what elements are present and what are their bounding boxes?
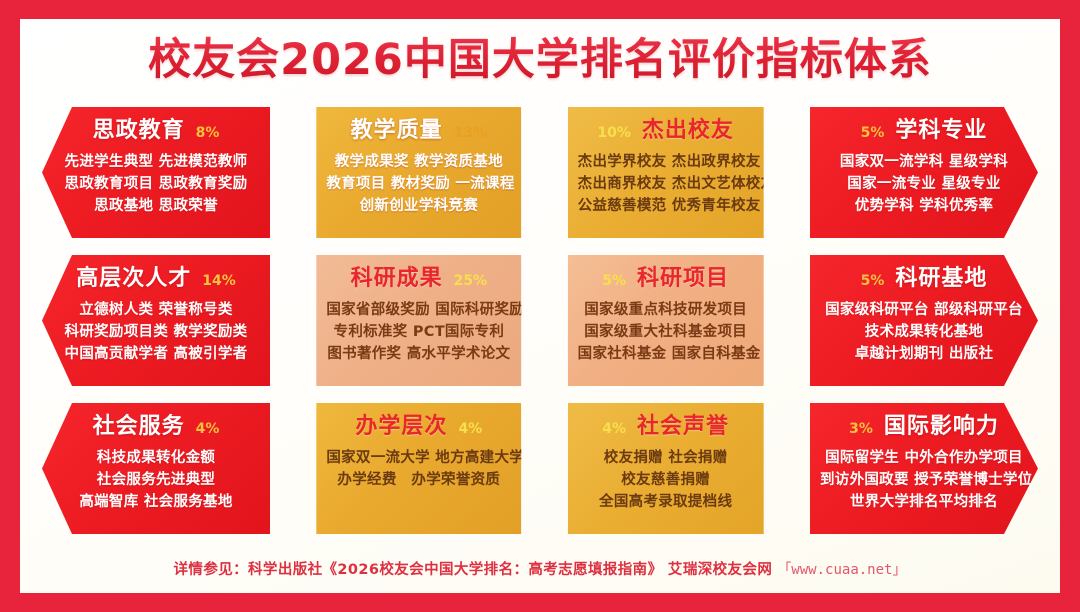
card-item-list: 校友捐赠 社会捐赠校友慈善捐赠全国高考录取提档线: [578, 447, 754, 513]
card-header: 10%杰出校友: [578, 116, 754, 146]
card-title: 科研成果: [351, 264, 443, 294]
card-header: 思政教育8%: [52, 116, 260, 146]
card-item-list: 国际留学生 中外合作办学项目到访外国政要 授予荣誉博士学位世界大学排名平均排名: [820, 447, 1028, 513]
indicator-row: 社会服务4%科技成果转化金额社会服务先进典型高端智库 社会服务基地办学层次4%国…: [42, 403, 1038, 534]
card-item-list: 国家省部级奖励 国际科研奖励专利标准奖 PCT国际专利图书著作奖 高水平学术论文: [326, 299, 511, 365]
card-item: 国家级重点科技研发项目: [578, 299, 754, 321]
card-title: 社会声誉: [637, 412, 729, 442]
card-item-list: 国家级科研平台 部级科研平台技术成果转化基地卓越计划期刊 出版社: [820, 299, 1028, 365]
card-item: 社会服务先进典型: [52, 469, 260, 491]
card-item: 国家省部级奖励 国际科研奖励: [326, 299, 511, 321]
card-weight-percent: 25%: [454, 266, 488, 296]
card-weight-percent: 5%: [861, 118, 885, 148]
card-item: 杰出商界校友 杰出文艺体校友: [578, 173, 754, 195]
card-item: 国家双一流学科 星级学科: [820, 151, 1028, 173]
card-item-list: 国家双一流大学 地方高建大学办学经费 办学荣誉资质: [326, 447, 511, 491]
card-item: 公益慈善模范 优秀青年校友: [578, 195, 754, 217]
indicator-card[interactable]: 5%科研项目国家级重点科技研发项目国家级重大社科基金项目国家社科基金 国家自科基…: [568, 255, 764, 386]
card-item: 中国高贡献学者 高被引学者: [52, 343, 260, 365]
card-item: 国家级科研平台 部级科研平台: [820, 299, 1028, 321]
card-header: 3%国际影响力: [820, 412, 1028, 442]
card-item: 思政教育项目 思政教育奖励: [52, 173, 260, 195]
poster-inner-canvas: 校友会2026中国大学排名评价指标体系 思政教育8%先进学生典型 先进模范教师思…: [20, 19, 1060, 593]
card-item-list: 国家级重点科技研发项目国家级重大社科基金项目国家社科基金 国家自科基金: [578, 299, 754, 365]
card-item-list: 杰出学界校友 杰出政界校友杰出商界校友 杰出文艺体校友公益慈善模范 优秀青年校友: [578, 151, 754, 217]
card-item: 世界大学排名平均排名: [820, 491, 1028, 513]
card-item: 专利标准奖 PCT国际专利: [326, 321, 511, 343]
indicator-card[interactable]: 教学质量13%教学成果奖 教学资质基地教育项目 教材奖励 一流课程创新创业学科竞…: [316, 107, 521, 238]
card-weight-percent: 8%: [196, 118, 220, 148]
card-item: 科研奖励项目类 教学奖励类: [52, 321, 260, 343]
card-header: 科研成果25%: [326, 264, 511, 294]
card-weight-percent: 3%: [849, 414, 873, 444]
indicator-card[interactable]: 思政教育8%先进学生典型 先进模范教师思政教育项目 思政教育奖励思政基地 思政荣…: [42, 107, 270, 238]
card-item: 国家双一流大学 地方高建大学: [326, 447, 511, 469]
card-item: 杰出学界校友 杰出政界校友: [578, 151, 754, 173]
card-title: 科研项目: [637, 264, 729, 294]
card-item: 教育项目 教材奖励 一流课程: [326, 173, 511, 195]
card-header: 5%科研项目: [578, 264, 754, 294]
card-header: 办学层次4%: [326, 412, 511, 442]
indicator-grid: 思政教育8%先进学生典型 先进模范教师思政教育项目 思政教育奖励思政基地 思政荣…: [20, 105, 1060, 534]
card-title: 社会服务: [93, 412, 185, 442]
card-title: 国际影响力: [884, 412, 999, 442]
card-item: 国家级重大社科基金项目: [578, 321, 754, 343]
indicator-card[interactable]: 5%学科专业国家双一流学科 星级学科国家一流专业 星级专业优势学科 学科优秀率: [810, 107, 1038, 238]
indicator-card[interactable]: 10%杰出校友杰出学界校友 杰出政界校友杰出商界校友 杰出文艺体校友公益慈善模范…: [568, 107, 764, 238]
page-title: 校友会2026中国大学排名评价指标体系: [148, 35, 932, 87]
title-area: 校友会2026中国大学排名评价指标体系: [20, 19, 1060, 105]
indicator-card[interactable]: 3%国际影响力国际留学生 中外合作办学项目到访外国政要 授予荣誉博士学位世界大学…: [810, 403, 1038, 534]
indicator-card[interactable]: 办学层次4%国家双一流大学 地方高建大学办学经费 办学荣誉资质: [316, 403, 521, 534]
card-weight-percent: 14%: [202, 266, 236, 296]
indicator-row: 思政教育8%先进学生典型 先进模范教师思政教育项目 思政教育奖励思政基地 思政荣…: [42, 107, 1038, 238]
indicator-card[interactable]: 高层次人才14%立德树人类 荣誉称号类科研奖励项目类 教学奖励类中国高贡献学者 …: [42, 255, 270, 386]
card-title: 高层次人才: [76, 264, 191, 294]
card-item: 教学成果奖 教学资质基地: [326, 151, 511, 173]
card-item: 高端智库 社会服务基地: [52, 491, 260, 513]
card-weight-percent: 5%: [602, 266, 626, 296]
footer: 详情参见：科学出版社《2026校友会中国大学排名：高考志愿填报指南》 艾瑞深校友…: [20, 558, 1060, 579]
card-item: 国家一流专业 星级专业: [820, 173, 1028, 195]
card-weight-percent: 4%: [196, 414, 220, 444]
card-weight-percent: 4%: [458, 414, 482, 444]
card-item: 先进学生典型 先进模范教师: [52, 151, 260, 173]
card-item: 科技成果转化金额: [52, 447, 260, 469]
card-weight-percent: 10%: [597, 118, 631, 148]
footer-url-link[interactable]: 「www.cuaa.net」: [777, 562, 906, 578]
card-item-list: 教学成果奖 教学资质基地教育项目 教材奖励 一流课程创新创业学科竞赛: [326, 151, 511, 217]
card-header: 社会服务4%: [52, 412, 260, 442]
card-item-list: 立德树人类 荣誉称号类科研奖励项目类 教学奖励类中国高贡献学者 高被引学者: [52, 299, 260, 365]
card-header: 5%学科专业: [820, 116, 1028, 146]
card-item: 办学经费 办学荣誉资质: [326, 469, 511, 491]
card-item: 校友捐赠 社会捐赠: [578, 447, 754, 469]
indicator-card[interactable]: 社会服务4%科技成果转化金额社会服务先进典型高端智库 社会服务基地: [42, 403, 270, 534]
card-item: 全国高考录取提档线: [578, 491, 754, 513]
card-title: 思政教育: [93, 116, 185, 146]
card-title: 办学层次: [355, 412, 447, 442]
card-item: 到访外国政要 授予荣誉博士学位: [820, 469, 1028, 491]
indicator-card[interactable]: 科研成果25%国家省部级奖励 国际科研奖励专利标准奖 PCT国际专利图书著作奖 …: [316, 255, 521, 386]
card-title: 教学质量: [351, 116, 443, 146]
card-weight-percent: 4%: [602, 414, 626, 444]
card-item-list: 科技成果转化金额社会服务先进典型高端智库 社会服务基地: [52, 447, 260, 513]
footer-source-text: 详情参见：科学出版社《2026校友会中国大学排名：高考志愿填报指南》 艾瑞深校友…: [174, 562, 773, 578]
indicator-card[interactable]: 4%社会声誉校友捐赠 社会捐赠校友慈善捐赠全国高考录取提档线: [568, 403, 764, 534]
poster-root: 校友会2026中国大学排名评价指标体系 思政教育8%先进学生典型 先进模范教师思…: [0, 0, 1080, 612]
card-header: 高层次人才14%: [52, 264, 260, 294]
card-header: 4%社会声誉: [578, 412, 754, 442]
card-item: 国际留学生 中外合作办学项目: [820, 447, 1028, 469]
card-item: 技术成果转化基地: [820, 321, 1028, 343]
card-title: 杰出校友: [642, 116, 734, 146]
card-item: 卓越计划期刊 出版社: [820, 343, 1028, 365]
card-item-list: 先进学生典型 先进模范教师思政教育项目 思政教育奖励思政基地 思政荣誉: [52, 151, 260, 217]
indicator-row: 高层次人才14%立德树人类 荣誉称号类科研奖励项目类 教学奖励类中国高贡献学者 …: [42, 255, 1038, 386]
card-title: 科研基地: [895, 264, 987, 294]
card-item: 立德树人类 荣誉称号类: [52, 299, 260, 321]
card-item: 创新创业学科竞赛: [326, 195, 511, 217]
card-title: 学科专业: [895, 116, 987, 146]
card-weight-percent: 13%: [454, 118, 488, 148]
card-weight-percent: 5%: [861, 266, 885, 296]
card-header: 5%科研基地: [820, 264, 1028, 294]
card-item: 思政基地 思政荣誉: [52, 195, 260, 217]
card-item-list: 国家双一流学科 星级学科国家一流专业 星级专业优势学科 学科优秀率: [820, 151, 1028, 217]
indicator-card[interactable]: 5%科研基地国家级科研平台 部级科研平台技术成果转化基地卓越计划期刊 出版社: [810, 255, 1038, 386]
card-header: 教学质量13%: [326, 116, 511, 146]
card-item: 图书著作奖 高水平学术论文: [326, 343, 511, 365]
card-item: 优势学科 学科优秀率: [820, 195, 1028, 217]
card-item: 校友慈善捐赠: [578, 469, 754, 491]
card-item: 国家社科基金 国家自科基金: [578, 343, 754, 365]
